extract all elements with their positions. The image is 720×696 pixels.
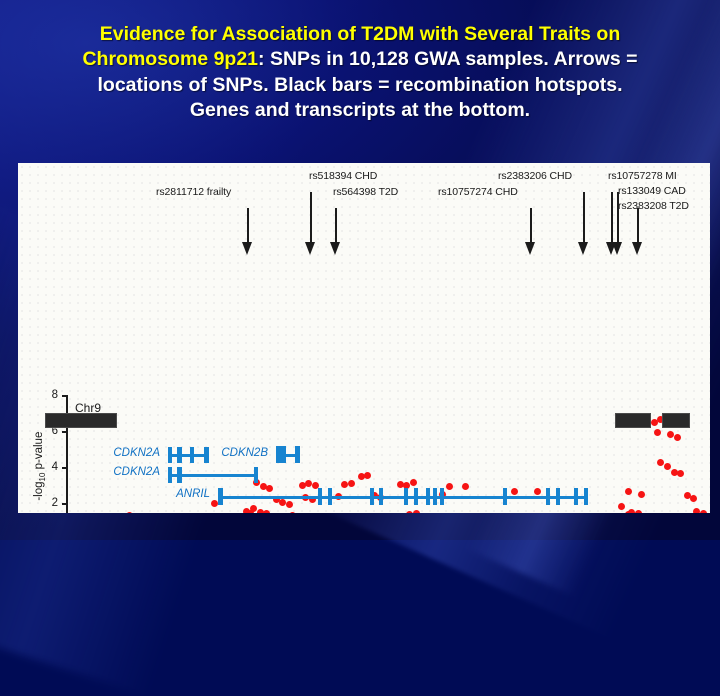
exon [254, 467, 258, 483]
exon [276, 446, 286, 463]
exon [218, 488, 223, 505]
gene-label-cdkn2a-2: CDKN2A [88, 466, 160, 478]
scatter-point [654, 429, 661, 436]
recombination-hotspot-bar [615, 413, 651, 428]
scatter-point [700, 510, 707, 514]
scatter-point [247, 510, 254, 514]
title-line-3-text: locations of SNPs. Black bars = recombin… [98, 74, 623, 96]
snp-arrow-rs2811712 [246, 208, 250, 256]
scatter-point [677, 470, 684, 477]
scatter-point [266, 485, 273, 492]
scatter-point [286, 501, 293, 508]
exon [168, 447, 172, 463]
scatter-point [211, 500, 218, 507]
scatter-point [674, 434, 681, 441]
scatter-point [364, 472, 371, 479]
snp-arrow-rs518394 [309, 192, 313, 256]
snp-arrow-rs564398 [334, 208, 338, 256]
snp-label-rs2383208: rs2383208 T2D [618, 200, 689, 212]
title-line-4-text: Genes and transcripts at the bottom. [190, 99, 530, 121]
scatter-point [635, 510, 642, 514]
exon [370, 488, 374, 505]
scatter-point [348, 480, 355, 487]
scatter-point [462, 483, 469, 490]
exon [295, 446, 300, 463]
exon [556, 488, 560, 505]
snp-arrow-rs2383208 [636, 208, 640, 256]
snp-label-rs10757274: rs10757274 CHD [438, 186, 518, 198]
title-line-3: locations of SNPs. Black bars = recombin… [12, 73, 708, 98]
y-axis-tick [62, 431, 68, 433]
slide-title: Evidence for Association of T2DM with Se… [12, 22, 708, 123]
title-line-1-text: Evidence for Association of T2DM with Se… [100, 23, 620, 45]
y-axis-tick-label: 4 [40, 461, 58, 473]
title-line-1: Evidence for Association of T2DM with Se… [12, 22, 708, 47]
figure-panel: rs2811712 frailty rs518394 CHD rs564398 … [18, 163, 710, 513]
exon [433, 488, 437, 505]
scatter-point [446, 483, 453, 490]
snp-arrow-rs2383206 [582, 192, 586, 256]
title-line-4: Genes and transcripts at the bottom. [12, 98, 708, 123]
exon [440, 488, 444, 505]
exon [318, 488, 322, 505]
scatter-point [664, 463, 671, 470]
exon [177, 467, 182, 483]
exon [414, 488, 418, 505]
title-line-2-rest: : SNPs in 10,128 GWA samples. Arrows = [258, 48, 638, 70]
scatter-point [638, 491, 645, 498]
recombination-hotspot-bar [45, 413, 117, 428]
gene-line-anril [218, 496, 588, 499]
scatter-point [126, 512, 133, 513]
recombination-hotspot-bar [662, 413, 690, 428]
exon [168, 467, 172, 483]
scatter-point [618, 503, 625, 510]
y-axis-tick [62, 503, 68, 505]
panel-texture [18, 163, 710, 513]
scatter-point [534, 488, 541, 495]
exon [190, 447, 194, 463]
exon [584, 488, 588, 505]
gene-label-cdkn2a-1: CDKN2A [88, 447, 160, 459]
y-axis-tick [62, 467, 68, 469]
snp-arrow-rs133049 [616, 192, 620, 256]
exon [328, 488, 332, 505]
snp-label-rs133049: rs133049 CAD [618, 185, 686, 197]
gene-label-anril: ANRIL [138, 488, 210, 500]
title-line-2: Chromosome 9p21: SNPs in 10,128 GWA samp… [12, 47, 708, 72]
snp-label-rs10757278: rs10757278 MI [608, 170, 677, 182]
y-axis-tick-label: 2 [40, 497, 58, 509]
snp-arrow-rs10757274 [529, 208, 533, 256]
snp-label-rs518394: rs518394 CHD [309, 170, 377, 182]
scatter-point [690, 495, 697, 502]
exon [546, 488, 550, 505]
exon [379, 488, 383, 505]
exon [426, 488, 430, 505]
exon [404, 488, 408, 505]
exon [574, 488, 578, 505]
y-axis-tick-label: 8 [40, 389, 58, 401]
scatter-point [625, 488, 632, 495]
snp-label-rs2811712: rs2811712 frailty [156, 186, 231, 198]
scatter-point [410, 479, 417, 486]
y-axis-tick [62, 395, 68, 397]
exon [177, 447, 182, 463]
title-line-2-highlight: Chromosome 9p21 [82, 48, 258, 70]
snp-label-rs2383206: rs2383206 CHD [498, 170, 572, 182]
exon [503, 488, 507, 505]
gene-label-cdkn2b: CDKN2B [196, 447, 268, 459]
scatter-point [263, 510, 270, 513]
scatter-point [413, 510, 420, 513]
snp-label-rs564398: rs564398 T2D [333, 186, 398, 198]
scatter-point [511, 488, 518, 495]
